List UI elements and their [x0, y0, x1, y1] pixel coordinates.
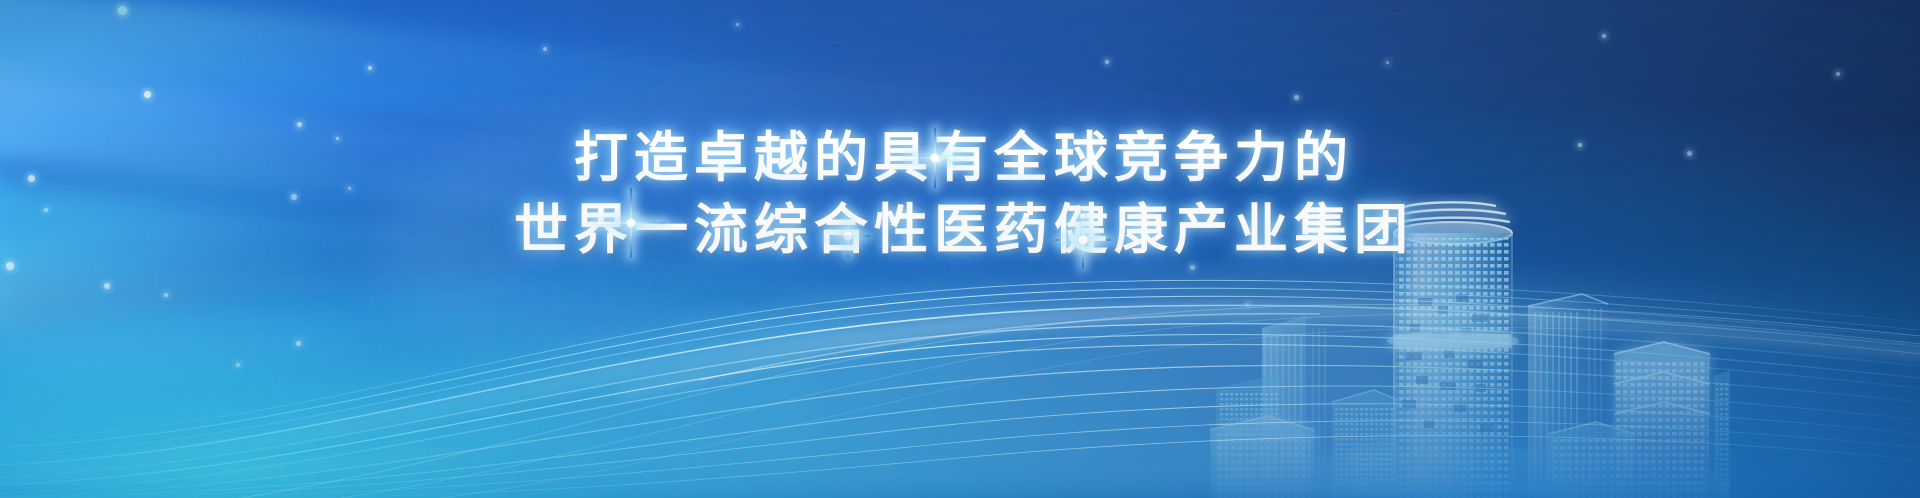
- sparkle-glint: [596, 188, 666, 258]
- sparkle-glint: [826, 214, 870, 258]
- floating-particles: [0, 0, 1920, 498]
- sparkle-glint: [1055, 212, 1111, 268]
- light-haze-band: [0, 271, 964, 498]
- light-haze-band: [367, 14, 1293, 406]
- headline-line-2: 世界一流综合性医药健康产业集团: [0, 194, 1920, 266]
- light-haze-band: [0, 117, 709, 432]
- sparkle-glint: [905, 128, 965, 188]
- diagonal-light-sweeps: [0, 0, 1920, 498]
- banner-vignette: [0, 0, 1920, 498]
- headline-line-1: 打造卓越的具有全球竞争力的: [0, 122, 1920, 194]
- banner-headline: 打造卓越的具有全球竞争力的 世界一流综合性医药健康产业集团: [0, 122, 1920, 266]
- hero-banner: 打造卓越的具有全球竞争力的 世界一流综合性医药健康产业集团: [0, 0, 1920, 498]
- light-haze-band: [0, 0, 800, 358]
- city-skyline: [1210, 138, 1730, 498]
- light-wave-trails: [0, 198, 1920, 498]
